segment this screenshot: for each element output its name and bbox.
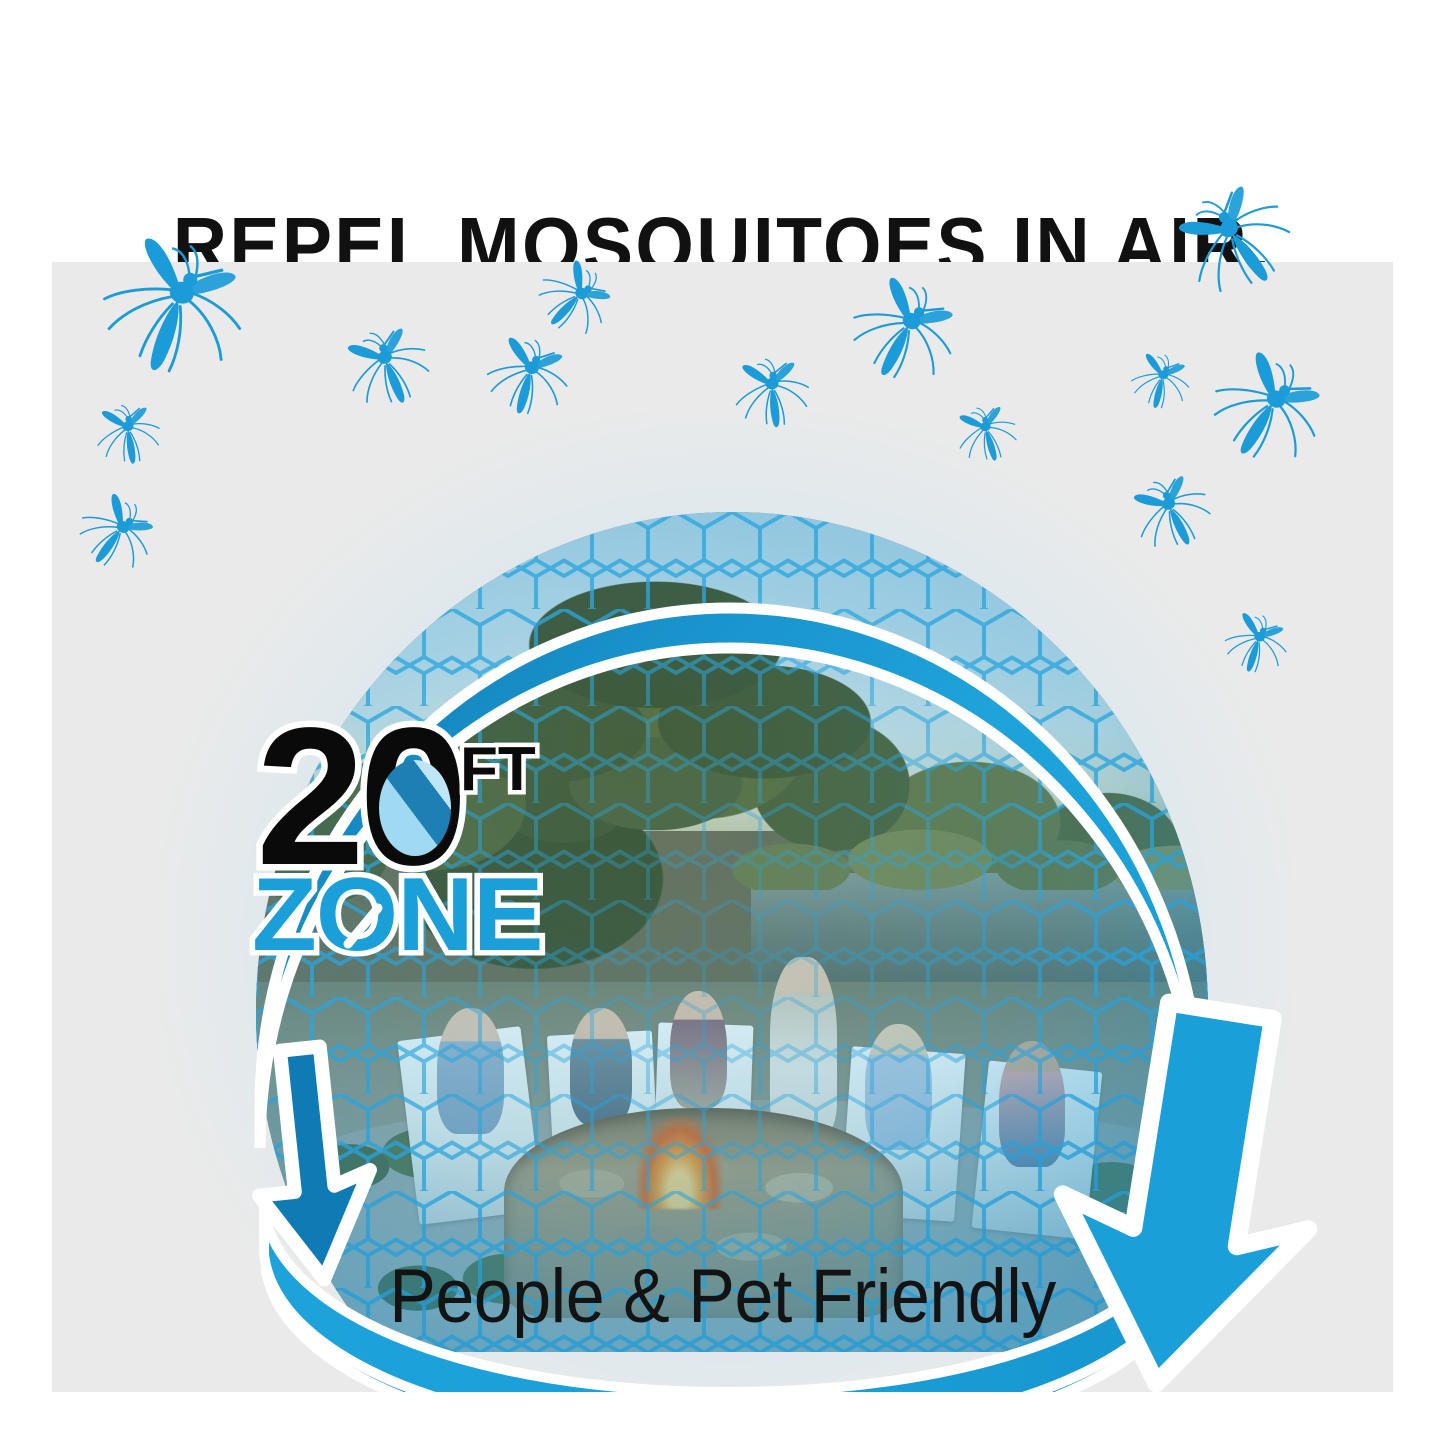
promo-graphic: REPEL MOSQUITOES IN AIR, NOT ON YOUR SKI…: [0, 0, 1445, 1445]
scene-panel: 20 20 FT ZONE: [52, 262, 1393, 1392]
badge-word: ZONE: [252, 857, 543, 973]
caption: People & Pet Friendly: [58, 1255, 1387, 1339]
coverage-badge: 20 20 FT ZONE: [252, 712, 682, 962]
badge-unit: FT: [460, 735, 536, 804]
